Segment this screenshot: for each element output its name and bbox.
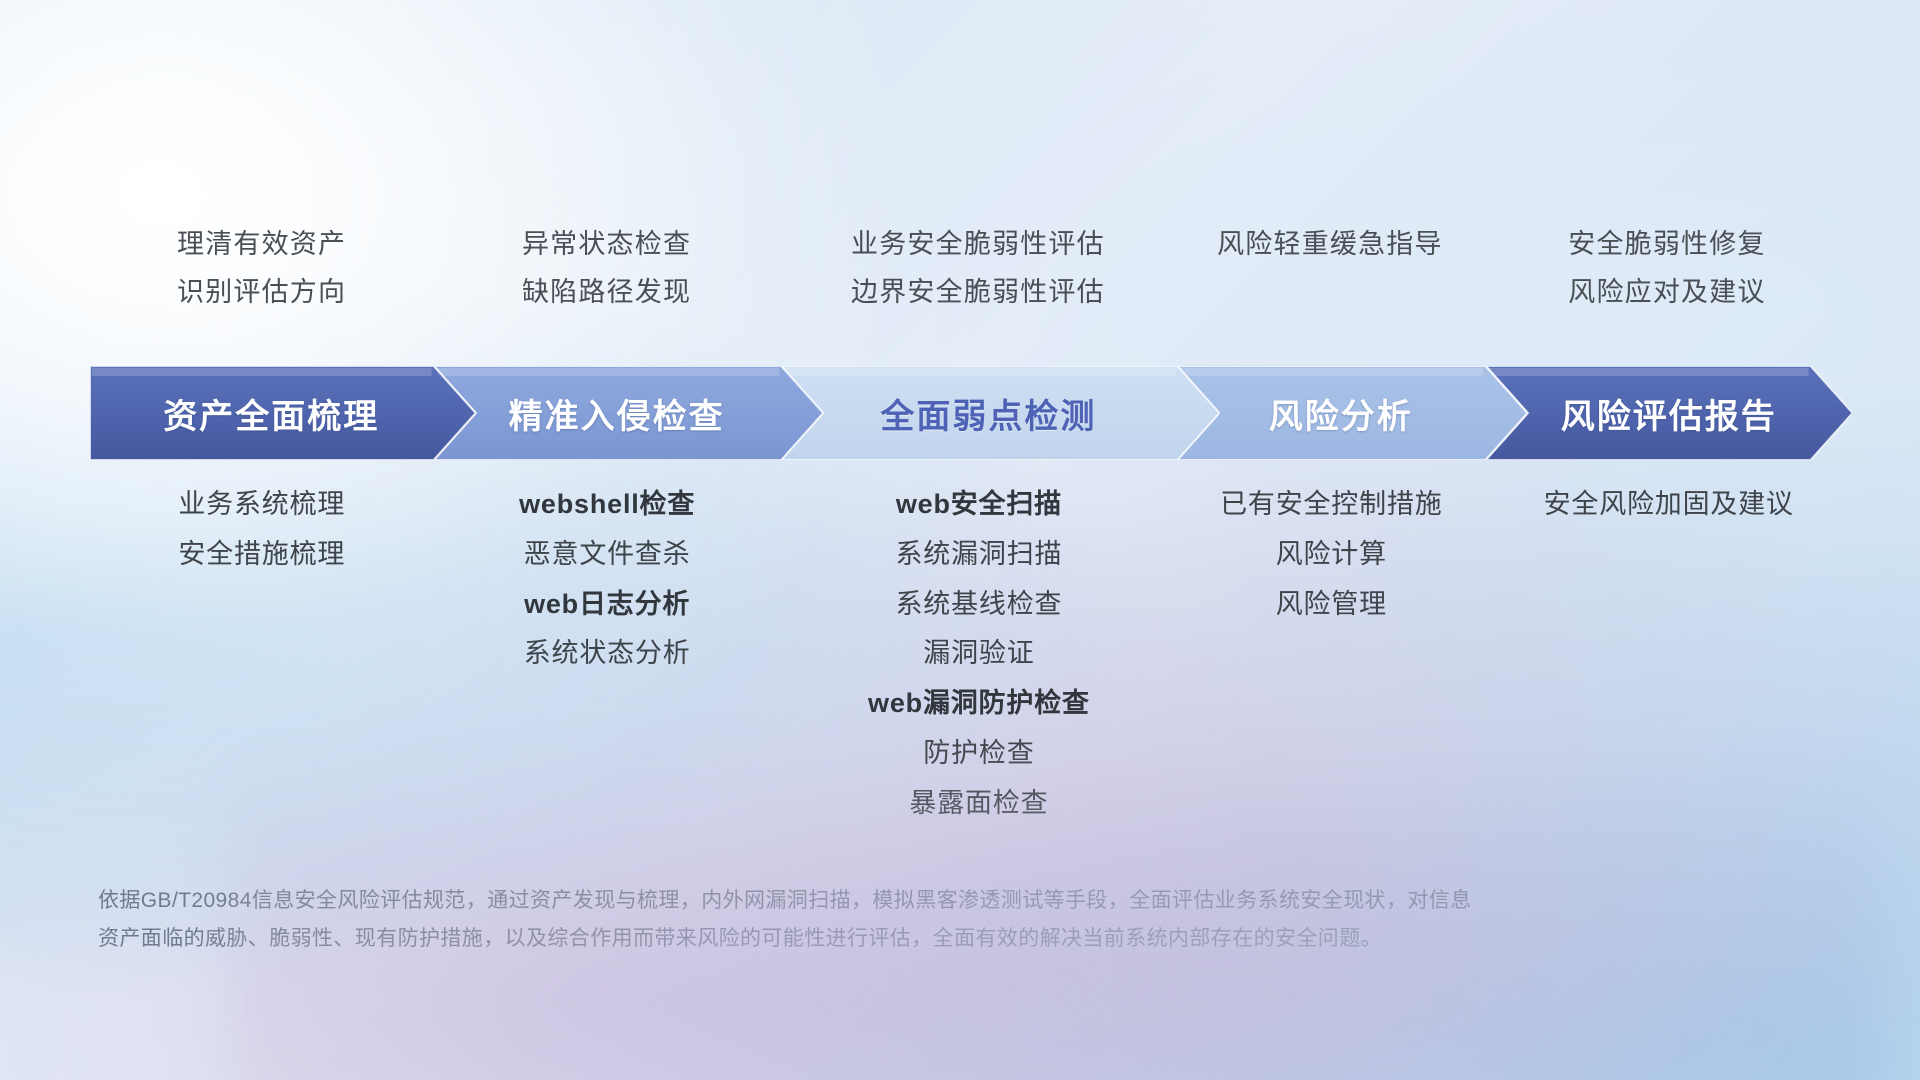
top-caption-line: 业务安全脆弱性评估: [851, 228, 1105, 262]
process-stage-asset-inventory[interactable]: 资产全面梳理: [90, 366, 476, 460]
detail-col-asset-inventory: 业务系统梳理安全措施梳理: [90, 488, 434, 820]
process-stage-intrusion-check[interactable]: 精准入侵检查: [434, 366, 823, 460]
top-caption-line: 异常状态检查: [522, 228, 691, 262]
top-caption-line: 风险应对及建议: [1568, 276, 1765, 310]
detail-item: 漏洞验证: [923, 637, 1034, 671]
footer-description: 依据GB/T20984信息安全风险评估规范，通过资产发现与梳理，内外网漏洞扫描，…: [98, 882, 1698, 958]
top-caption-line: 边界安全脆弱性评估: [851, 276, 1105, 310]
stage-title-intrusion-check: 精准入侵检查: [509, 389, 725, 438]
top-caption-line: 缺陷路径发现: [522, 276, 691, 310]
stage-title-weakness-detection: 全面弱点检测: [880, 389, 1096, 438]
slide-canvas: 理清有效资产识别评估方向异常状态检查缺陷路径发现业务安全脆弱性评估边界安全脆弱性…: [0, 0, 1920, 1080]
top-caption-col-weakness-detection: 业务安全脆弱性评估边界安全脆弱性评估: [780, 228, 1176, 310]
stage-title-risk-analysis: 风险分析: [1269, 389, 1413, 438]
detail-item: web日志分析: [524, 588, 690, 622]
stage-title-risk-report: 风险评估报告: [1561, 389, 1777, 438]
top-caption-line: 风险轻重缓急指导: [1217, 228, 1443, 262]
footer-line-2: 资产面临的威胁、脆弱性、现有防护措施，以及综合作用而带来风险的可能性进行评估，全…: [98, 920, 1698, 958]
detail-item: 安全措施梳理: [178, 538, 345, 572]
detail-item: 系统基线检查: [896, 588, 1063, 622]
detail-item: webshell检查: [519, 488, 695, 522]
process-stage-weakness-detection[interactable]: 全面弱点检测: [781, 366, 1219, 460]
top-caption-col-risk-analysis: 风险轻重缓急指导: [1176, 228, 1484, 310]
detail-item: 系统漏洞扫描: [896, 538, 1063, 572]
process-stage-risk-analysis[interactable]: 风险分析: [1177, 366, 1527, 460]
bottom-detail-row: 业务系统梳理安全措施梳理webshell检查恶意文件查杀web日志分析系统状态分…: [90, 488, 1852, 820]
top-caption-col-intrusion-check: 异常状态检查缺陷路径发现: [433, 228, 780, 310]
detail-item: 风险计算: [1276, 538, 1387, 572]
footer-line-1: 依据GB/T20984信息安全风险评估规范，通过资产发现与梳理，内外网漏洞扫描，…: [98, 882, 1698, 920]
detail-item: 系统状态分析: [524, 637, 691, 671]
top-caption-col-risk-report: 安全脆弱性修复风险应对及建议: [1484, 228, 1850, 310]
top-caption-row: 理清有效资产识别评估方向异常状态检查缺陷路径发现业务安全脆弱性评估边界安全脆弱性…: [90, 228, 1850, 310]
top-caption-line: 理清有效资产: [177, 228, 346, 262]
detail-item: 风险管理: [1276, 588, 1387, 622]
stage-title-asset-inventory: 资产全面梳理: [163, 389, 379, 438]
detail-item: 恶意文件查杀: [524, 538, 691, 572]
detail-item: 暴露面检查: [909, 787, 1048, 821]
detail-item: 已有安全控制措施: [1220, 488, 1442, 522]
detail-item: web漏洞防护检查: [868, 687, 1090, 721]
detail-col-intrusion-check: webshell检查恶意文件查杀web日志分析系统状态分析: [434, 488, 781, 820]
detail-col-risk-report: 安全风险加固及建议: [1485, 488, 1851, 820]
detail-item: 防护检查: [923, 737, 1034, 771]
detail-item: 安全风险加固及建议: [1544, 488, 1794, 522]
top-caption-col-asset-inventory: 理清有效资产识别评估方向: [90, 228, 433, 310]
process-arrow-band: 资产全面梳理精准入侵检查全面弱点检测风险分析风险评估报告: [90, 366, 1852, 460]
top-caption-line: 安全脆弱性修复: [1568, 228, 1765, 262]
detail-item: 业务系统梳理: [178, 488, 345, 522]
detail-col-risk-analysis: 已有安全控制措施风险计算风险管理: [1177, 488, 1485, 820]
process-stage-risk-report[interactable]: 风险评估报告: [1486, 366, 1852, 460]
detail-item: web安全扫描: [896, 488, 1062, 522]
detail-col-weakness-detection: web安全扫描系统漏洞扫描系统基线检查漏洞验证web漏洞防护检查防护检查暴露面检…: [781, 488, 1177, 820]
top-caption-line: 识别评估方向: [177, 276, 346, 310]
